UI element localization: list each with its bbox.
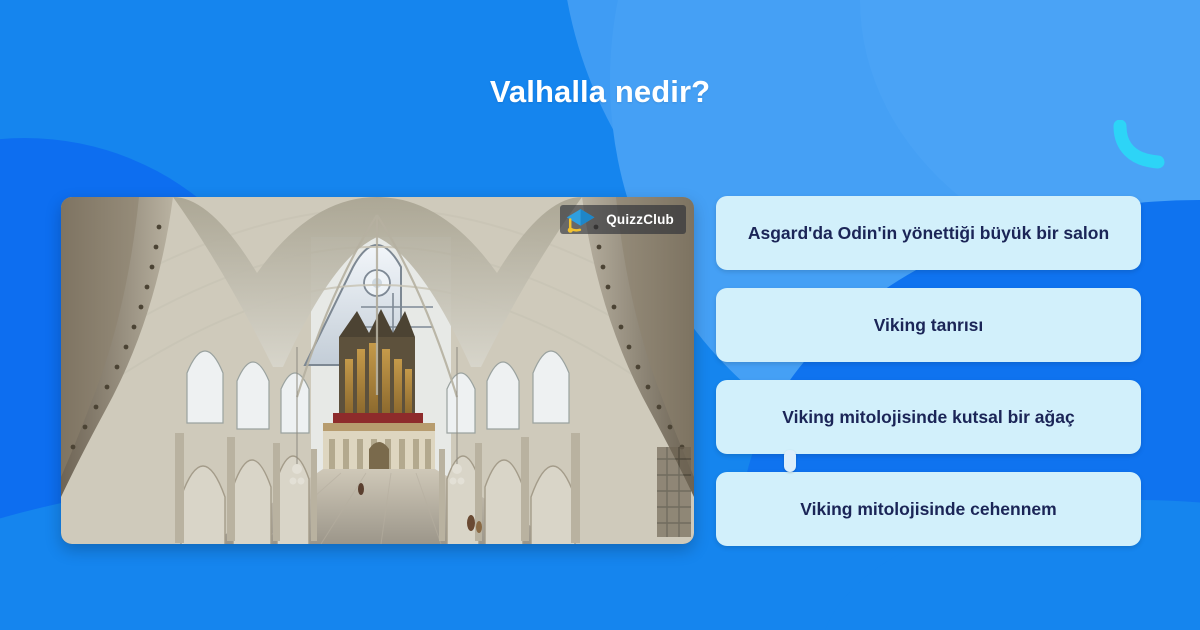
- cathedral-illustration: [61, 197, 694, 544]
- watermark-badge: QuizzClub: [560, 205, 686, 234]
- answer-option-2[interactable]: Viking tanrısı: [716, 288, 1141, 362]
- question-image: QuizzClub: [61, 197, 694, 544]
- cyan-hook-icon: [1112, 120, 1182, 172]
- answer-option-3[interactable]: Viking mitolojisinde kutsal bir ağaç: [716, 380, 1141, 454]
- answer-option-4[interactable]: Viking mitolojisinde cehennem: [716, 472, 1141, 546]
- answer-option-1[interactable]: Asgard'da Odin'in yönettiği büyük bir sa…: [716, 196, 1141, 270]
- answer-list: Asgard'da Odin'in yönettiği büyük bir sa…: [716, 196, 1141, 546]
- answer-divider-notch: [784, 450, 796, 472]
- watermark-label: QuizzClub: [606, 212, 674, 227]
- quiz-card: Valhalla nedir?: [0, 0, 1200, 630]
- page-title: Valhalla nedir?: [0, 74, 1200, 110]
- graduation-cap-icon: [564, 205, 597, 234]
